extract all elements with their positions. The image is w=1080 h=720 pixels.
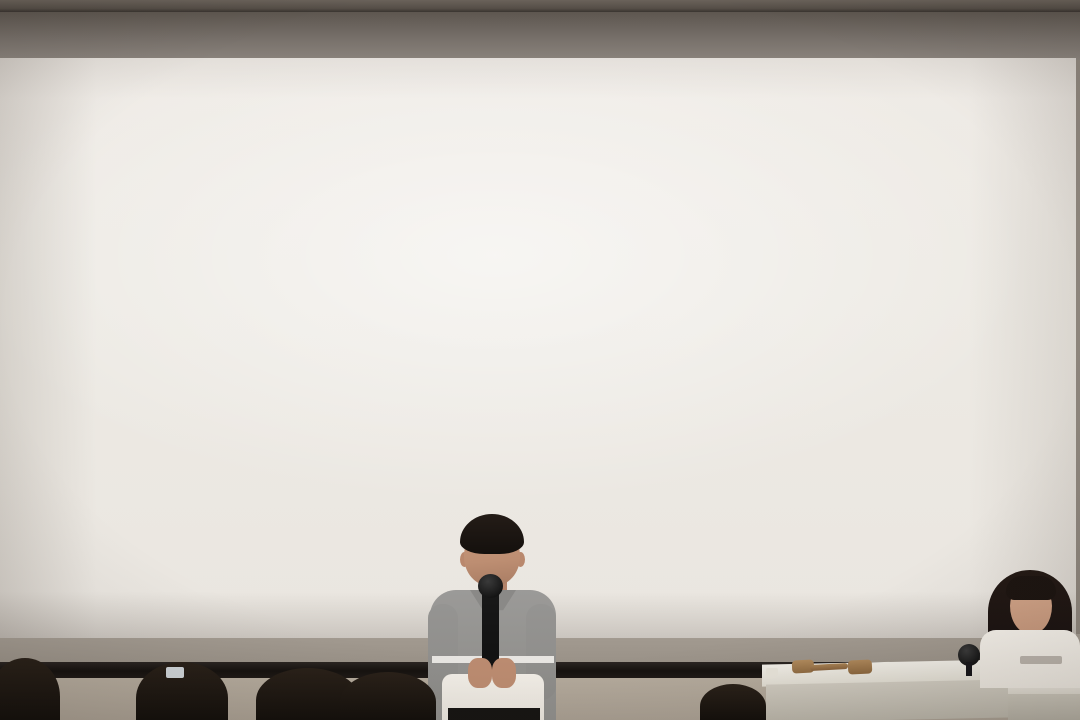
university-name-en: BEIHAI UNIVERSITY OF ART AND DESIGN [478,120,691,129]
speaker-left-hand [468,658,492,688]
desk-cup [766,668,778,678]
university-name-cn: 北海艺术设计学院 [476,89,743,119]
host-top-print [1020,656,1062,664]
presentation-photo: 中国共青团 北海艺术设计学院 BEIHAI UNIVERSITY OF ART … [0,0,1080,720]
seated-host [976,566,1080,686]
wall-above-screen [0,12,1080,60]
speaker-right-hand [492,658,516,688]
audience-hair-clip [166,667,184,678]
slide-title: 九、校团委书记讲话 [0,302,1076,388]
emblem-star-icon [352,92,363,103]
desk-microphone-stem [966,662,972,676]
communist-youth-league-emblem: 中国共青团 [334,84,396,134]
microphone-head [478,574,503,598]
wooden-gavel-block [848,659,873,674]
speaker-trousers [448,708,540,720]
university-wordmark: 北海艺术设计学院 BEIHAI UNIVERSITY OF ART AND DE… [478,89,742,130]
audience-head-5 [700,684,766,720]
host-fringe [1006,576,1056,600]
speaker-hair [460,514,524,554]
beihai-swirl-logo [408,85,464,133]
speaker-with-microphone [424,508,560,720]
slide-logo-lockup: 中国共青团 北海艺术设计学院 BEIHAI UNIVERSITY OF ART … [0,84,1076,134]
desk-right-panel [1008,694,1080,720]
